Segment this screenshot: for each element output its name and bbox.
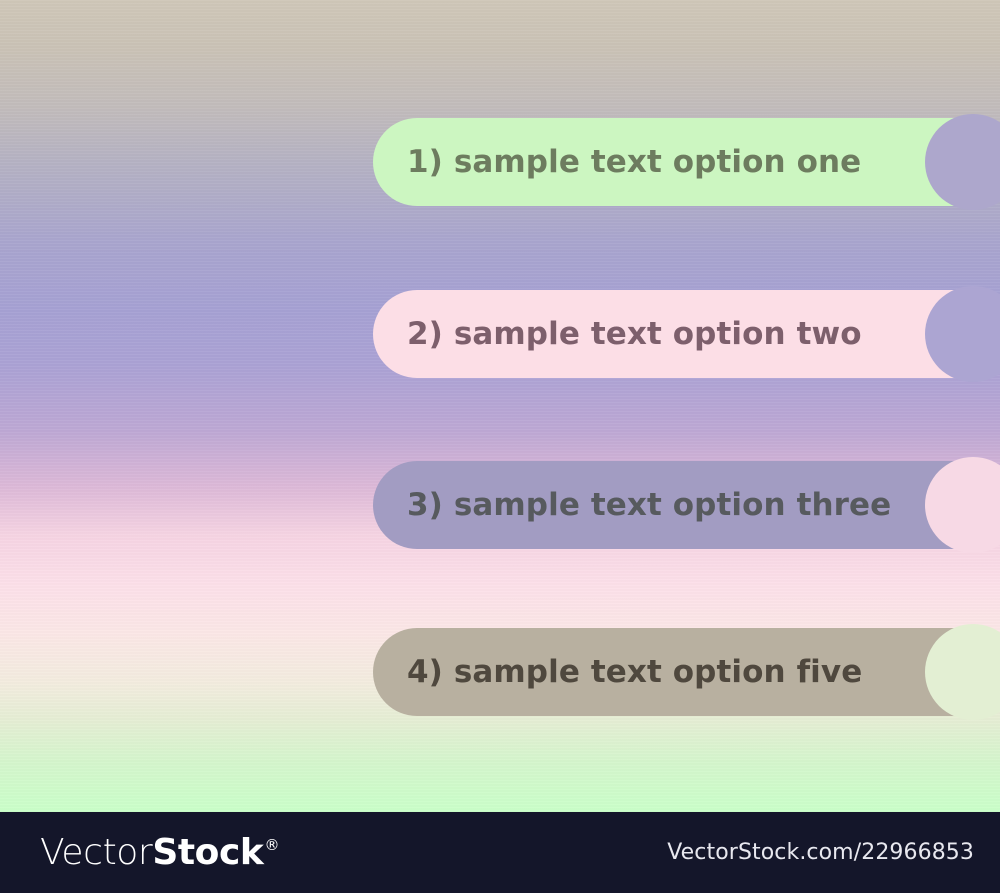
banner-option-3-label: 3) sample text option three [407, 490, 891, 521]
banner-option-3[interactable]: 3) sample text option three [373, 461, 961, 549]
vectorstock-logo-vector: Vector [40, 832, 152, 873]
banner-option-2-label: 2) sample text option two [407, 319, 862, 350]
banner-option-1[interactable]: 1) sample text option one [373, 118, 961, 206]
banner-option-4-label: 4) sample text option five [407, 657, 862, 688]
artboard: 1) sample text option one 2) sample text… [0, 0, 1000, 893]
watermark-url: VectorStock.com/22966853 [667, 840, 974, 865]
vectorstock-logo: Vector Stock ® [40, 832, 278, 873]
banner-option-4[interactable]: 4) sample text option five [373, 628, 961, 716]
registered-trademark-icon: ® [264, 836, 279, 854]
vectorstock-logo-stock: Stock [152, 832, 263, 873]
banner-option-1-label: 1) sample text option one [407, 147, 861, 178]
watermark-footer: Vector Stock ® VectorStock.com/22966853 [0, 812, 1000, 893]
banner-option-2[interactable]: 2) sample text option two [373, 290, 961, 378]
